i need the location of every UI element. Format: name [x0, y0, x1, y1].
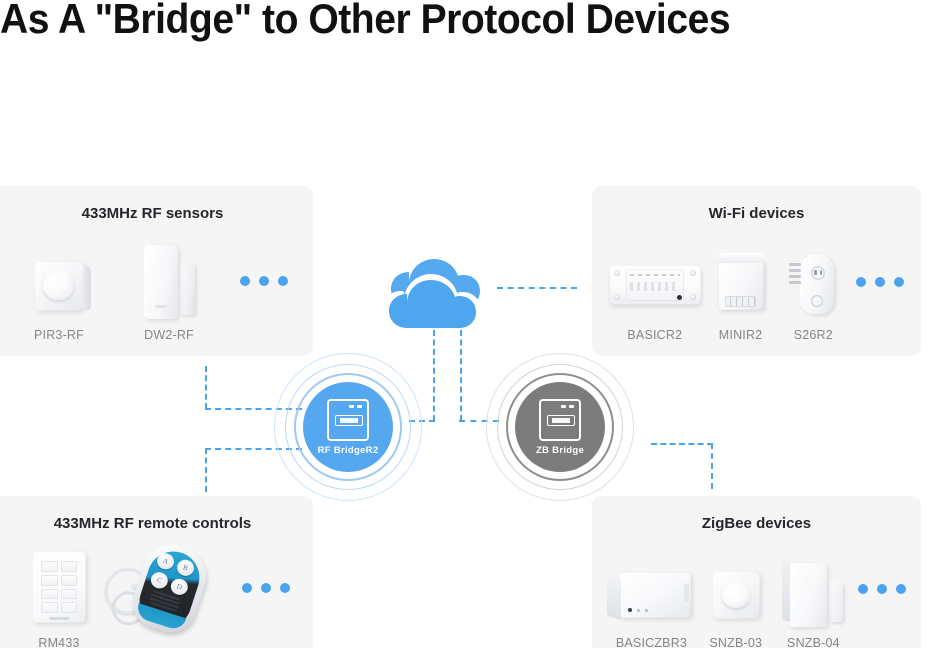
bridge-rf-bridger2[interactable]: RF BridgeR2: [274, 353, 422, 501]
bridge-device-icon: [327, 399, 369, 441]
device-label: BASICR2: [627, 328, 682, 342]
device-basiczbr3[interactable]: BASICZBR3: [606, 551, 697, 648]
wifi-more[interactable]: [849, 245, 911, 342]
rf-sensors-device-list: PIR3-RF DW2-RF: [4, 234, 309, 342]
connector-cloud-to-wifi: [497, 287, 577, 289]
connector-zb-to-zigbee-horizontal: [651, 443, 713, 445]
device-label: DW2-RF: [144, 328, 194, 342]
device-s26r2[interactable]: S26R2: [777, 245, 849, 342]
connector-cloud-down-right: [460, 330, 462, 421]
device-key-fob[interactable]: A B C D: [114, 549, 226, 648]
rf-bridge-core[interactable]: RF BridgeR2: [303, 382, 393, 472]
rf-remotes-device-list: RM433 A B C D: [4, 544, 309, 648]
zigbee-device-list: BASICZBR3 SNZB-03 SNZB-04: [606, 544, 911, 648]
connector-sensors-vertical: [205, 366, 207, 409]
device-label: [168, 636, 172, 648]
panel-wifi-devices-title: Wi-Fi devices: [592, 205, 921, 222]
infographic-canvas: As A "Bridge" to Other Protocol Devices …: [0, 0, 939, 648]
panel-rf-sensors: 433MHz RF sensors PIR3-RF DW2-RF: [0, 186, 313, 356]
device-label: BASICZBR3: [616, 636, 687, 648]
panel-rf-remotes-title: 433MHz RF remote controls: [0, 515, 313, 532]
device-label: SNZB-03: [709, 636, 762, 648]
device-label: SNZB-04: [787, 636, 840, 648]
panel-rf-sensors-title: 433MHz RF sensors: [0, 205, 313, 222]
wall-remote-panel-icon: [32, 549, 86, 627]
device-label: PIR3-RF: [34, 328, 84, 342]
panel-wifi-devices: Wi-Fi devices BASICR2: [592, 186, 921, 356]
bridge-zb-bridge[interactable]: ZB Bridge: [486, 353, 634, 501]
smart-plug-icon: [792, 245, 834, 319]
zb-bridge-core[interactable]: ZB Bridge: [515, 382, 605, 472]
device-rm433[interactable]: RM433: [4, 549, 114, 648]
zigbee-door-sensor-icon: [783, 551, 843, 627]
three-dots-icon[interactable]: [856, 277, 904, 287]
door-window-sensor-icon: [144, 243, 195, 319]
device-label: S26R2: [794, 328, 833, 342]
zigbee-motion-sensor-icon: [712, 551, 760, 627]
connector-remotes-vertical: [205, 448, 207, 492]
rf-remotes-more[interactable]: [226, 549, 306, 648]
basic-smart-switch-icon: [609, 245, 701, 319]
device-pir3-rf[interactable]: PIR3-RF: [4, 243, 114, 342]
rf-sensors-more[interactable]: [224, 243, 304, 342]
zigbee-switch-module-icon: [611, 551, 691, 627]
pir-motion-sensor-icon: [34, 243, 84, 319]
zigbee-more[interactable]: [852, 551, 911, 648]
device-snzb-04[interactable]: SNZB-04: [775, 551, 853, 648]
cloud-icon: [368, 252, 498, 338]
connector-zb-to-zigbee-vertical: [711, 443, 713, 489]
device-minir2[interactable]: MINIR2: [704, 245, 778, 342]
bridge-device-icon: [539, 399, 581, 441]
zb-bridge-label: ZB Bridge: [536, 445, 584, 456]
panel-zigbee-devices-title: ZigBee devices: [592, 515, 921, 532]
rf-bridge-label: RF BridgeR2: [318, 445, 379, 456]
three-dots-icon[interactable]: [858, 584, 906, 594]
device-label: MINIR2: [719, 328, 763, 342]
device-dw2-rf[interactable]: DW2-RF: [114, 243, 224, 342]
page-title: As A "Bridge" to Other Protocol Devices: [0, 0, 873, 44]
device-snzb-03[interactable]: SNZB-03: [697, 551, 775, 648]
connector-cloud-down-left: [433, 330, 435, 421]
mini-smart-switch-icon: [718, 245, 764, 319]
three-dots-icon[interactable]: [240, 276, 288, 286]
panel-zigbee-devices: ZigBee devices BASICZBR3: [592, 496, 921, 648]
device-basicr2[interactable]: BASICR2: [606, 245, 704, 342]
panel-rf-remotes: 433MHz RF remote controls RM433: [0, 496, 313, 648]
device-label: RM433: [38, 636, 79, 648]
wifi-device-list: BASICR2 MINIR2: [606, 234, 911, 342]
three-dots-icon[interactable]: [242, 583, 290, 593]
key-fob-remote-icon: A B C D: [138, 549, 202, 627]
